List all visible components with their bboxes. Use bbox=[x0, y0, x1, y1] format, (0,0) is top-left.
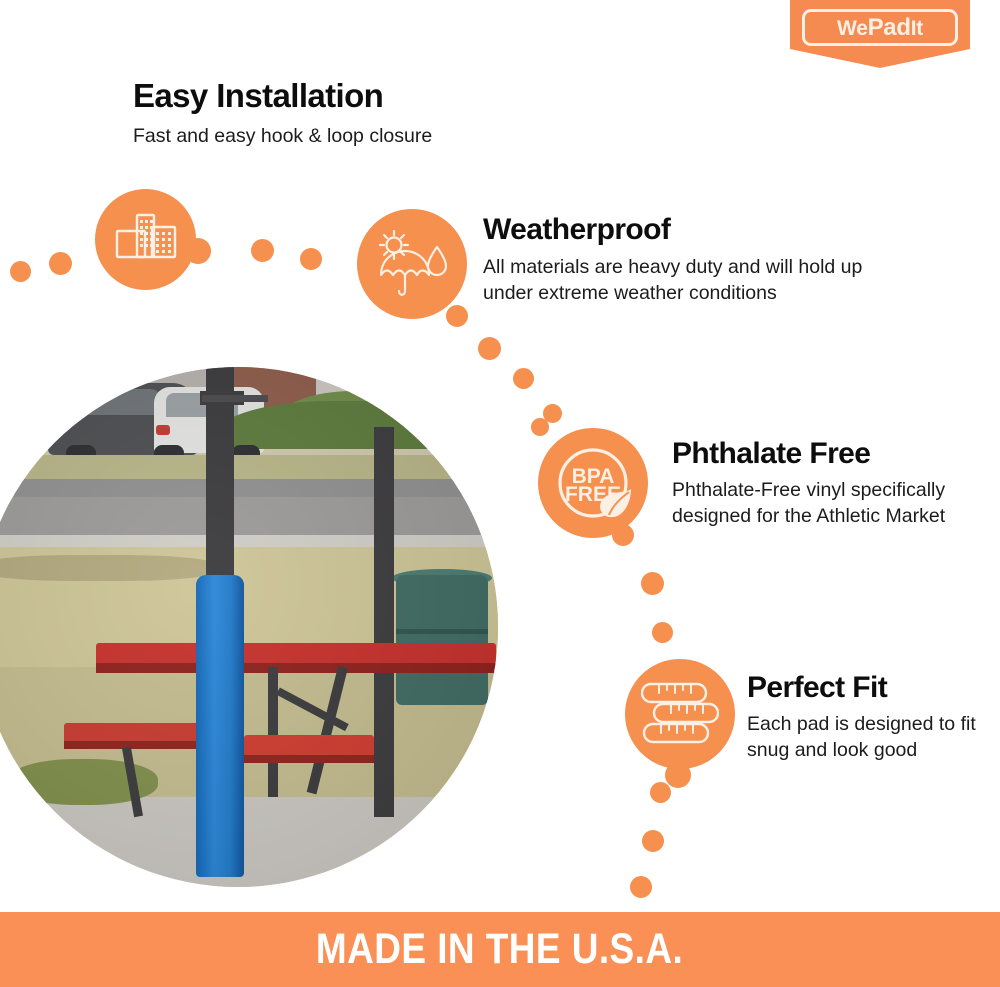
decorative-blob bbox=[446, 305, 468, 327]
decorative-dot bbox=[641, 572, 664, 595]
made-in-usa-text: MADE IN THE U.S.A. bbox=[316, 925, 683, 974]
feature-title: Perfect Fit bbox=[747, 671, 987, 704]
feature-description: Fast and easy hook & loop closure bbox=[133, 124, 563, 150]
brand-logo-banner: WePadIt bbox=[790, 0, 970, 68]
feature-title: Weatherproof bbox=[483, 213, 913, 246]
feature-title: Easy Installation bbox=[133, 78, 563, 114]
brand-logo-text: WePadIt bbox=[837, 14, 923, 42]
made-in-usa-banner: MADE IN THE U.S.A. bbox=[0, 912, 1000, 987]
feature-title: Phthalate Free bbox=[672, 437, 972, 470]
decorative-blob bbox=[185, 238, 211, 264]
decorative-dot bbox=[300, 248, 322, 270]
icon-circle-easy-installation bbox=[95, 189, 196, 290]
decorative-dot bbox=[10, 261, 31, 282]
decorative-dot bbox=[49, 252, 72, 275]
decorative-blob bbox=[665, 762, 691, 788]
decorative-dot bbox=[642, 830, 664, 852]
feature-description: Each pad is designed to fit snug and loo… bbox=[747, 712, 987, 764]
icon-circle-phthalate-free: BPA FREE bbox=[538, 428, 648, 538]
feature-block-phthalate-free: Phthalate Free Phthalate-Free vinyl spec… bbox=[672, 437, 972, 530]
decorative-dot bbox=[650, 782, 671, 803]
feature-block-perfect-fit: Perfect Fit Each pad is designed to fit … bbox=[747, 671, 987, 764]
brand-logo-pad: Pad bbox=[868, 14, 911, 41]
brand-logo-we: We bbox=[837, 17, 868, 40]
feature-block-easy-installation: Easy Installation Fast and easy hook & l… bbox=[133, 78, 563, 150]
product-photo-circle bbox=[0, 367, 498, 887]
decorative-blob bbox=[612, 524, 634, 546]
decorative-dot bbox=[630, 876, 652, 898]
infographic-page: WePadIt bbox=[0, 0, 1000, 987]
brand-logo-it: It bbox=[911, 17, 923, 40]
decorative-dot bbox=[652, 622, 673, 643]
feature-description: All materials are heavy duty and will ho… bbox=[483, 255, 913, 307]
feature-block-weatherproof: Weatherproof All materials are heavy dut… bbox=[483, 213, 913, 307]
feature-description: Phthalate-Free vinyl specifically design… bbox=[672, 478, 972, 530]
icon-circle-weatherproof bbox=[357, 209, 467, 319]
decorative-dot bbox=[513, 368, 534, 389]
decorative-dot bbox=[478, 337, 501, 360]
brand-logo-frame: WePadIt bbox=[802, 9, 958, 46]
decorative-blob bbox=[531, 418, 549, 436]
icon-circle-perfect-fit bbox=[625, 659, 735, 769]
decorative-dot bbox=[251, 239, 274, 262]
